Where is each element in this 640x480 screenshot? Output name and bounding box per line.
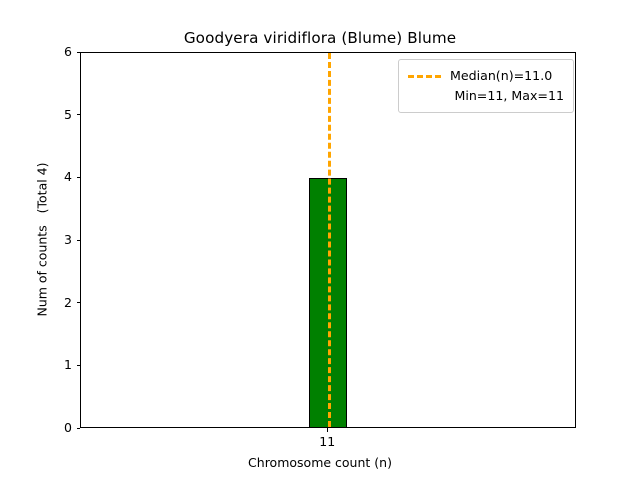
chart-figure: Goodyera viridiflora (Blume) Blume 01234… — [0, 0, 640, 480]
median-line — [328, 53, 331, 427]
y-tick-label: 5 — [52, 107, 72, 122]
y-tick-label: 1 — [52, 357, 72, 372]
legend-item-median: Median(n)=11.0 — [408, 66, 564, 85]
dashed-line-icon — [408, 69, 441, 83]
y-tick-mark — [77, 365, 81, 366]
legend-label-minmax: Min=11, Max=11 — [454, 88, 564, 103]
x-tick-label: 11 — [297, 434, 357, 449]
y-tick-mark — [77, 240, 81, 241]
y-tick-label: 6 — [52, 44, 72, 59]
y-tick-mark — [77, 428, 81, 429]
y-tick-mark — [77, 114, 81, 115]
x-axis-label: Chromosome count (n) — [0, 455, 640, 470]
chart-legend[interactable]: Median(n)=11.0 Min=11, Max=11 — [398, 59, 574, 113]
y-tick-label: 4 — [52, 169, 72, 184]
x-tick-mark — [327, 428, 328, 432]
legend-item-minmax: Min=11, Max=11 — [408, 85, 564, 105]
y-axis-label: Num of counts (Total 4) — [35, 52, 50, 428]
y-tick-mark — [77, 177, 81, 178]
y-tick-label: 3 — [52, 232, 72, 247]
y-tick-label: 2 — [52, 295, 72, 310]
legend-label-median: Median(n)=11.0 — [450, 68, 552, 83]
y-tick-mark — [77, 52, 81, 53]
chart-title: Goodyera viridiflora (Blume) Blume — [0, 29, 640, 47]
y-tick-label: 0 — [52, 420, 72, 435]
y-tick-mark — [77, 302, 81, 303]
